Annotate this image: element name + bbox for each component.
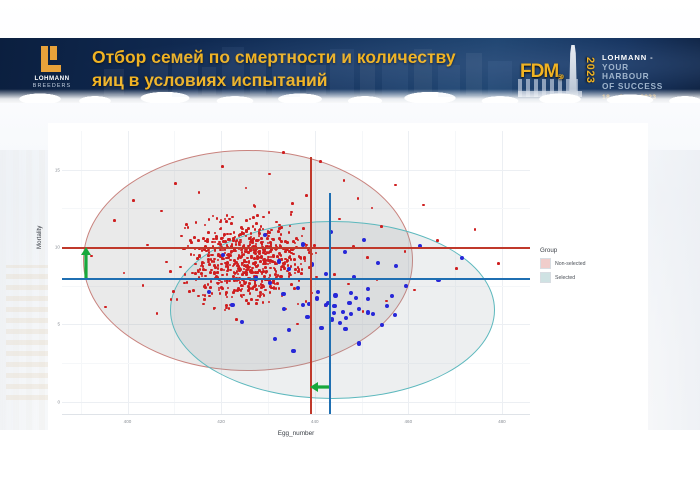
- data-point-non-selected: [190, 241, 193, 244]
- data-point-non-selected: [274, 273, 277, 276]
- skyline-building: [250, 59, 266, 95]
- mortality-shift-arrow-icon: [80, 247, 92, 278]
- data-point-non-selected: [255, 265, 258, 268]
- legend-item-selected[interactable]: Selected: [540, 272, 640, 283]
- data-point-non-selected: [276, 282, 279, 285]
- data-point-non-selected: [263, 294, 266, 297]
- gridline-horizontal: [62, 402, 530, 403]
- data-point-non-selected: [226, 273, 229, 276]
- data-point-non-selected: [245, 219, 248, 222]
- data-point-non-selected: [248, 260, 251, 263]
- data-point-non-selected: [280, 266, 283, 269]
- skyline-building: [382, 57, 408, 97]
- data-point-selected: [366, 310, 370, 314]
- lohmann-l-mark-icon: [39, 46, 65, 72]
- data-point-non-selected: [223, 234, 226, 237]
- data-point-non-selected: [252, 262, 255, 265]
- data-point-non-selected: [250, 298, 253, 301]
- data-point-non-selected: [280, 240, 283, 243]
- data-point-non-selected: [238, 269, 241, 272]
- skyline-building: [150, 61, 168, 95]
- data-point-non-selected: [210, 280, 213, 283]
- data-point-non-selected: [215, 235, 218, 238]
- data-point-non-selected: [302, 227, 305, 230]
- data-point-non-selected: [269, 291, 272, 294]
- data-point-non-selected: [203, 248, 206, 251]
- data-point-non-selected: [225, 265, 228, 268]
- data-point-non-selected: [362, 310, 365, 313]
- data-point-non-selected: [282, 151, 285, 154]
- data-point-selected: [333, 293, 337, 297]
- data-point-non-selected: [255, 302, 258, 305]
- data-point-non-selected: [221, 274, 224, 277]
- x-axis-label: Egg_number: [62, 430, 530, 437]
- data-point-non-selected: [294, 263, 297, 266]
- data-point-non-selected: [338, 218, 341, 221]
- data-point-non-selected: [259, 260, 262, 263]
- data-point-non-selected: [193, 236, 196, 239]
- data-point-non-selected: [248, 287, 251, 290]
- data-point-non-selected: [474, 228, 477, 231]
- data-point-non-selected: [225, 220, 228, 223]
- data-point-non-selected: [283, 262, 286, 265]
- data-point-non-selected: [436, 239, 439, 242]
- legend: Group Non-selected Selected: [540, 247, 640, 286]
- data-point-non-selected: [255, 288, 258, 291]
- y-axis-label: Mortality: [36, 226, 43, 249]
- data-point-non-selected: [187, 226, 190, 229]
- data-point-non-selected: [380, 225, 383, 228]
- data-point-non-selected: [219, 221, 222, 224]
- legend-swatch-non-selected: [540, 258, 551, 269]
- skyline-building: [488, 61, 512, 97]
- data-point-non-selected: [219, 249, 222, 252]
- data-point-non-selected: [245, 261, 248, 264]
- data-point-non-selected: [272, 254, 275, 257]
- y-tick-label: 15: [54, 167, 60, 172]
- fdm-logo-edition: 59: [558, 75, 563, 81]
- data-point-selected: [291, 349, 295, 353]
- fdm-logo-text: FDM: [520, 61, 558, 82]
- data-point-non-selected: [259, 291, 262, 294]
- data-point-non-selected: [256, 239, 259, 242]
- skyline-building: [172, 55, 198, 97]
- data-point-non-selected: [305, 194, 308, 197]
- data-point-non-selected: [404, 250, 407, 253]
- data-point-non-selected: [497, 262, 500, 265]
- data-point-non-selected: [253, 257, 256, 260]
- data-point-non-selected: [206, 238, 209, 241]
- x-axis-line: [62, 414, 530, 415]
- data-point-non-selected: [278, 287, 281, 290]
- data-point-selected: [354, 296, 358, 300]
- skyline-building: [272, 53, 300, 97]
- data-point-selected: [301, 242, 305, 246]
- data-point-non-selected: [301, 268, 304, 271]
- data-point-non-selected: [113, 219, 116, 222]
- data-point-non-selected: [264, 266, 267, 269]
- scatter-plot: 400420440460480051015 Egg_number Mortali…: [62, 131, 530, 414]
- data-point-non-selected: [188, 290, 191, 293]
- data-point-non-selected: [305, 244, 308, 247]
- data-point-non-selected: [455, 267, 458, 270]
- data-point-non-selected: [254, 271, 257, 274]
- skyline-building: [330, 49, 354, 97]
- data-point-non-selected: [252, 225, 255, 228]
- gridline-vertical: [502, 131, 503, 414]
- x-tick-label: 460: [404, 419, 412, 424]
- skyline-building: [438, 65, 460, 97]
- y-tick-label: 0: [54, 399, 60, 404]
- reference-line-egg-right: [329, 193, 331, 414]
- data-point-selected: [240, 320, 244, 324]
- data-point-non-selected: [254, 252, 257, 255]
- data-point-non-selected: [422, 204, 425, 207]
- data-point-selected: [281, 292, 285, 296]
- data-point-non-selected: [249, 269, 252, 272]
- data-point-non-selected: [179, 266, 182, 269]
- data-point-non-selected: [184, 273, 187, 276]
- data-point-non-selected: [197, 239, 200, 242]
- data-point-non-selected: [280, 226, 283, 229]
- data-point-non-selected: [222, 240, 225, 243]
- data-point-non-selected: [303, 257, 306, 260]
- data-point-non-selected: [217, 267, 220, 270]
- data-point-non-selected: [286, 259, 289, 262]
- data-point-non-selected: [132, 199, 135, 202]
- data-point-selected: [230, 303, 234, 307]
- data-point-non-selected: [246, 265, 249, 268]
- brand-name: LOHMANN: [22, 75, 82, 83]
- data-point-non-selected: [213, 264, 216, 267]
- data-point-non-selected: [262, 216, 265, 219]
- data-point-non-selected: [298, 255, 301, 258]
- data-point-non-selected: [207, 254, 210, 257]
- data-point-non-selected: [247, 302, 250, 305]
- data-point-non-selected: [394, 184, 397, 187]
- data-point-non-selected: [202, 262, 205, 265]
- data-point-non-selected: [212, 238, 215, 241]
- data-point-non-selected: [196, 257, 199, 260]
- data-point-non-selected: [204, 294, 207, 297]
- data-point-non-selected: [295, 237, 298, 240]
- data-point-non-selected: [258, 231, 261, 234]
- data-point-non-selected: [242, 232, 245, 235]
- data-point-non-selected: [260, 237, 263, 240]
- data-point-non-selected: [385, 300, 388, 303]
- data-point-non-selected: [262, 263, 265, 266]
- data-point-non-selected: [221, 165, 224, 168]
- data-point-non-selected: [276, 255, 279, 258]
- fdm-logo: FDM59: [520, 61, 563, 83]
- data-point-selected: [357, 341, 361, 345]
- data-point-non-selected: [319, 160, 322, 163]
- legend-title: Group: [540, 247, 640, 254]
- data-point-non-selected: [208, 263, 211, 266]
- data-point-non-selected: [268, 231, 271, 234]
- data-point-selected: [341, 310, 345, 314]
- reference-line-egg-left: [310, 157, 312, 414]
- data-point-selected: [376, 261, 380, 265]
- header-banner: LOHMANN BREEDERS Отбор семей по смертнос…: [0, 38, 700, 103]
- data-point-non-selected: [207, 231, 210, 234]
- chart-card: 400420440460480051015 Egg_number Mortali…: [48, 123, 648, 441]
- data-point-non-selected: [247, 227, 250, 230]
- data-point-non-selected: [142, 284, 145, 287]
- data-point-non-selected: [290, 283, 293, 286]
- skyline-building: [414, 49, 432, 95]
- data-point-non-selected: [269, 267, 272, 270]
- data-point-selected: [332, 304, 336, 308]
- data-point-non-selected: [262, 285, 265, 288]
- data-point-non-selected: [271, 238, 274, 241]
- data-point-non-selected: [252, 216, 255, 219]
- legend-label-selected: Selected: [555, 275, 575, 281]
- data-point-non-selected: [233, 279, 236, 282]
- skyline-building: [222, 47, 244, 97]
- data-point-non-selected: [172, 290, 175, 293]
- data-point-non-selected: [209, 271, 212, 274]
- event-year: 2023: [584, 57, 596, 83]
- data-point-selected: [273, 337, 277, 341]
- data-point-non-selected: [254, 228, 257, 231]
- data-point-non-selected: [203, 285, 206, 288]
- data-point-non-selected: [291, 202, 294, 205]
- data-point-non-selected: [235, 318, 238, 321]
- data-point-selected: [319, 326, 323, 330]
- data-point-non-selected: [333, 273, 336, 276]
- data-point-non-selected: [256, 257, 259, 260]
- data-point-selected: [343, 327, 347, 331]
- data-point-non-selected: [293, 258, 296, 261]
- legend-item-non-selected[interactable]: Non-selected: [540, 258, 640, 269]
- data-point-non-selected: [300, 272, 303, 275]
- data-point-non-selected: [259, 295, 262, 298]
- data-point-selected: [362, 238, 366, 242]
- data-point-non-selected: [221, 287, 224, 290]
- skyline-building: [202, 67, 216, 95]
- data-point-selected: [296, 286, 300, 290]
- data-point-non-selected: [235, 243, 238, 246]
- data-point-non-selected: [292, 240, 295, 243]
- data-point-non-selected: [268, 211, 271, 214]
- data-point-selected: [305, 315, 309, 319]
- data-point-non-selected: [245, 250, 248, 253]
- data-point-non-selected: [413, 289, 416, 292]
- data-point-non-selected: [192, 289, 195, 292]
- data-point-non-selected: [250, 239, 253, 242]
- data-point-non-selected: [202, 237, 205, 240]
- data-point-non-selected: [170, 298, 173, 301]
- data-point-non-selected: [239, 257, 242, 260]
- y-tick-label: 5: [54, 322, 60, 327]
- data-point-non-selected: [297, 270, 300, 273]
- egg-number-shift-arrow-icon: [310, 381, 329, 393]
- data-point-non-selected: [219, 292, 222, 295]
- data-point-non-selected: [256, 214, 259, 217]
- data-point-non-selected: [209, 286, 212, 289]
- skyline-building: [466, 53, 482, 95]
- data-point-non-selected: [248, 282, 251, 285]
- y-tick-label: 10: [54, 244, 60, 249]
- reference-line-mortality-lower: [62, 278, 530, 280]
- skyline-building: [360, 61, 375, 95]
- data-point-non-selected: [296, 323, 299, 326]
- data-point-non-selected: [245, 229, 248, 232]
- data-point-non-selected: [224, 240, 227, 243]
- x-tick-label: 440: [311, 419, 319, 424]
- reference-line-mortality-upper: [62, 247, 530, 249]
- data-point-selected: [315, 296, 319, 300]
- data-point-non-selected: [210, 258, 213, 261]
- legend-swatch-selected: [540, 272, 551, 283]
- skyline-building: [306, 65, 326, 95]
- x-tick-label: 420: [217, 419, 225, 424]
- data-point-non-selected: [254, 282, 257, 285]
- data-point-non-selected: [228, 307, 231, 310]
- data-point-non-selected: [260, 256, 263, 259]
- data-point-non-selected: [228, 280, 231, 283]
- data-point-non-selected: [260, 286, 263, 289]
- data-point-non-selected: [245, 271, 248, 274]
- data-point-selected: [347, 301, 351, 305]
- x-tick-label: 400: [124, 419, 132, 424]
- data-point-non-selected: [207, 249, 210, 252]
- data-point-non-selected: [226, 214, 229, 217]
- data-point-non-selected: [232, 237, 235, 240]
- legend-label-non-selected: Non-selected: [555, 261, 586, 267]
- data-point-non-selected: [233, 259, 236, 262]
- skyline-building: [104, 69, 124, 95]
- data-point-non-selected: [228, 238, 231, 241]
- data-point-non-selected: [265, 270, 268, 273]
- data-point-non-selected: [232, 250, 235, 253]
- data-point-non-selected: [219, 243, 222, 246]
- data-point-non-selected: [185, 223, 188, 226]
- data-point-non-selected: [277, 230, 280, 233]
- data-point-non-selected: [210, 254, 213, 257]
- data-point-non-selected: [255, 222, 258, 225]
- data-point-non-selected: [229, 269, 232, 272]
- data-point-non-selected: [174, 182, 177, 185]
- data-point-non-selected: [230, 222, 233, 225]
- data-point-non-selected: [156, 312, 159, 315]
- data-point-selected: [349, 312, 353, 316]
- data-point-non-selected: [268, 173, 271, 176]
- data-point-non-selected: [245, 299, 248, 302]
- data-point-non-selected: [273, 287, 276, 290]
- data-point-non-selected: [266, 237, 269, 240]
- data-point-non-selected: [169, 270, 172, 273]
- data-point-non-selected: [366, 256, 369, 259]
- x-tick-label: 480: [498, 419, 506, 424]
- data-point-non-selected: [241, 273, 244, 276]
- data-point-non-selected: [290, 258, 293, 261]
- data-point-non-selected: [225, 257, 228, 260]
